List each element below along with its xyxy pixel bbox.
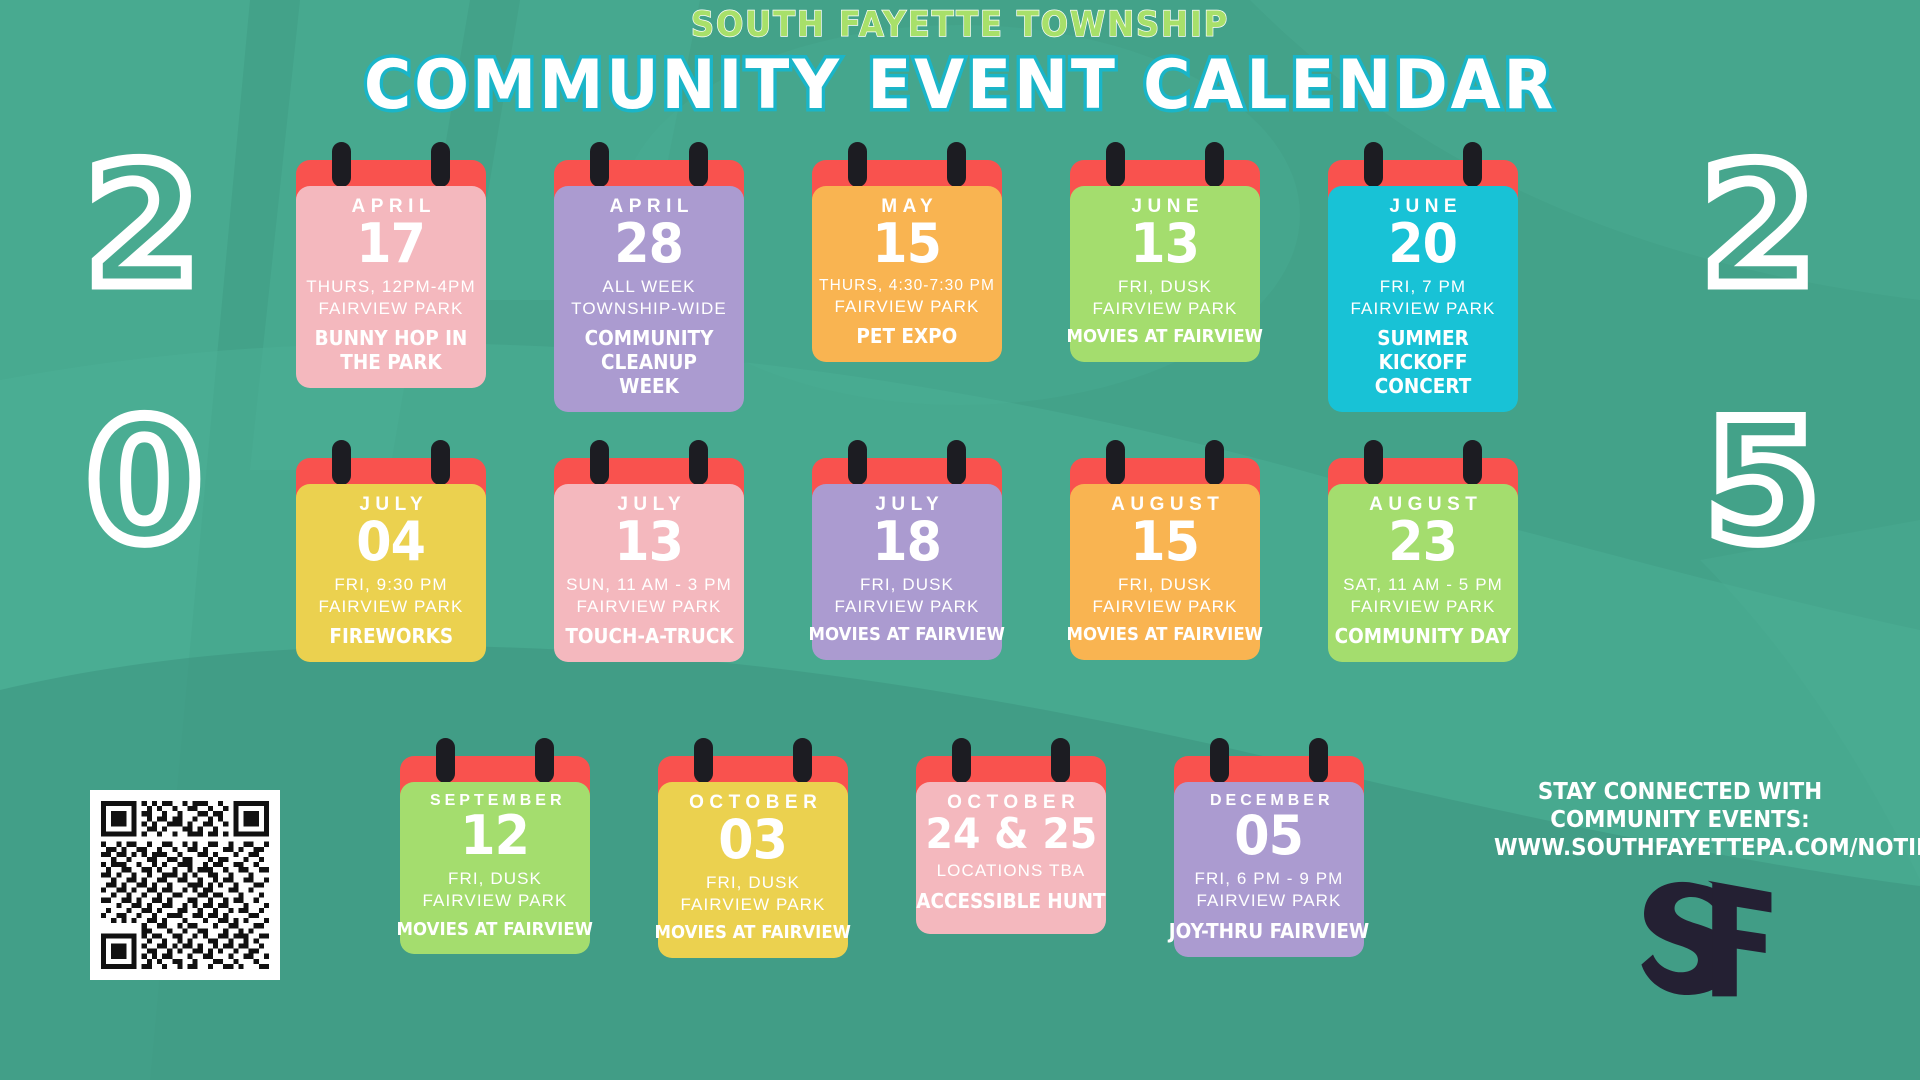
page-title: COMMUNITY EVENT CALENDAR: [48, 47, 1872, 125]
event-title: FIREWORKS: [329, 624, 453, 648]
calendar-pin-icon: [1106, 440, 1125, 485]
calendar-card-body: AUGUST23SAT, 11 AM - 5 PMFAIRVIEW PARKCO…: [1328, 484, 1518, 662]
calendar-card-body: OCTOBER03FRI, DUSKFAIRVIEW PARKMOVIES AT…: [658, 782, 848, 958]
event-detail: FRI, 6 PM - 9 PMFAIRVIEW PARK: [1195, 868, 1344, 912]
sf-logo: [1625, 875, 1785, 1005]
calendar-pin-icon: [1205, 440, 1224, 485]
event-title: ACCESSIBLE HUNT: [916, 889, 1105, 913]
footer-note: STAY CONNECTED WITH COMMUNITY EVENTS: WW…: [1494, 778, 1866, 862]
qr-code-image: [101, 801, 269, 969]
event-day: 13: [1131, 217, 1200, 271]
event-day: 05: [1235, 809, 1304, 863]
event-title: MOVIES AT FAIRVIEW: [397, 919, 593, 941]
event-title: JOY-THRU FAIRVIEW: [1169, 919, 1370, 943]
calendar-card[interactable]: SEPTEMBER12FRI, DUSKFAIRVIEW PARKMOVIES …: [400, 756, 590, 954]
calendar-card-body: JUNE20FRI, 7 PMFAIRVIEW PARKSUMMER KICKO…: [1328, 186, 1518, 412]
calendar-pin-icon: [1205, 142, 1224, 187]
calendar-card[interactable]: JUNE20FRI, 7 PMFAIRVIEW PARKSUMMER KICKO…: [1328, 160, 1518, 412]
calendar-card[interactable]: OCTOBER03FRI, DUSKFAIRVIEW PARKMOVIES AT…: [658, 756, 848, 958]
calendar-card-body: JUNE13FRI, DUSKFAIRVIEW PARKMOVIES AT FA…: [1070, 186, 1260, 362]
event-detail: LOCATIONS TBA: [937, 860, 1086, 882]
calendar-pin-icon: [590, 142, 609, 187]
calendar-pin-icon: [431, 142, 450, 187]
calendar-pin-icon: [1051, 738, 1070, 783]
calendar-card[interactable]: JUNE13FRI, DUSKFAIRVIEW PARKMOVIES AT FA…: [1070, 160, 1260, 362]
calendar-pin-icon: [1106, 142, 1125, 187]
kicker-text: SOUTH FAYETTE TOWNSHIP: [77, 6, 1843, 45]
calendar-card-body: MAY15THURS, 4:30-7:30 PMFAIRVIEW PARKPET…: [812, 186, 1002, 362]
event-detail: FRI, 9:30 PMFAIRVIEW PARK: [319, 574, 464, 618]
calendar-card-body: JULY18FRI, DUSKFAIRVIEW PARKMOVIES AT FA…: [812, 484, 1002, 660]
calendar-card[interactable]: AUGUST15FRI, DUSKFAIRVIEW PARKMOVIES AT …: [1070, 458, 1260, 660]
calendar-pin-icon: [1309, 738, 1328, 783]
calendar-card-body: DECEMBER05FRI, 6 PM - 9 PMFAIRVIEW PARKJ…: [1174, 782, 1364, 957]
event-detail: FRI, DUSKFAIRVIEW PARK: [835, 574, 980, 618]
event-day: 12: [461, 809, 530, 863]
calendar-card[interactable]: OCTOBER24 & 25LOCATIONS TBAACCESSIBLE HU…: [916, 756, 1106, 934]
calendar-pin-icon: [793, 738, 812, 783]
calendar-card-body: AUGUST15FRI, DUSKFAIRVIEW PARKMOVIES AT …: [1070, 484, 1260, 660]
calendar-card[interactable]: JULY04FRI, 9:30 PMFAIRVIEW PARKFIREWORKS: [296, 458, 486, 662]
event-detail: THURS, 12PM-4PMFAIRVIEW PARK: [306, 276, 476, 320]
event-title: COMMUNITY DAY: [1335, 624, 1511, 648]
calendar-pin-icon: [1463, 440, 1482, 485]
calendar-card-body: OCTOBER24 & 25LOCATIONS TBAACCESSIBLE HU…: [916, 782, 1106, 934]
event-title: COMMUNITY CLEANUP WEEK: [569, 326, 729, 398]
calendar-pin-icon: [689, 142, 708, 187]
calendar-pin-icon: [694, 738, 713, 783]
event-day: 15: [1131, 515, 1200, 569]
calendar-pin-icon: [947, 142, 966, 187]
event-day: 04: [357, 515, 426, 569]
calendar-card[interactable]: APRIL28ALL WEEKTOWNSHIP-WIDECOMMUNITY CL…: [554, 160, 744, 412]
sf-monogram-icon: [1625, 875, 1785, 1005]
event-detail: SAT, 11 AM - 5 PMFAIRVIEW PARK: [1343, 574, 1503, 618]
event-detail: FRI, DUSKFAIRVIEW PARK: [681, 872, 826, 916]
event-detail: FRI, DUSKFAIRVIEW PARK: [423, 868, 568, 912]
event-day: 20: [1389, 217, 1458, 271]
event-detail: THURS, 4:30-7:30 PMFAIRVIEW PARK: [819, 276, 995, 318]
calendar-pin-icon: [436, 738, 455, 783]
calendar-pin-icon: [1364, 142, 1383, 187]
event-title: PET EXPO: [857, 324, 958, 348]
event-title: MOVIES AT FAIRVIEW: [1067, 326, 1263, 348]
calendar-pin-icon: [947, 440, 966, 485]
event-calendar-poster: SOUTH FAYETTE TOWNSHIP COMMUNITY EVENT C…: [0, 0, 1920, 1080]
event-detail: ALL WEEKTOWNSHIP-WIDE: [571, 276, 727, 320]
event-title: MOVIES AT FAIRVIEW: [809, 624, 1005, 646]
calendar-pin-icon: [332, 142, 351, 187]
event-day: 03: [719, 813, 788, 867]
calendar-pin-icon: [848, 440, 867, 485]
calendar-pin-icon: [1463, 142, 1482, 187]
calendar-pin-icon: [952, 738, 971, 783]
event-day: 15: [873, 217, 942, 271]
calendar-card[interactable]: MAY15THURS, 4:30-7:30 PMFAIRVIEW PARKPET…: [812, 160, 1002, 362]
calendar-pin-icon: [689, 440, 708, 485]
calendar-card-body: JULY04FRI, 9:30 PMFAIRVIEW PARKFIREWORKS: [296, 484, 486, 662]
event-day: 17: [357, 217, 426, 271]
calendar-card-body: SEPTEMBER12FRI, DUSKFAIRVIEW PARKMOVIES …: [400, 782, 590, 954]
event-detail: FRI, DUSKFAIRVIEW PARK: [1093, 574, 1238, 618]
calendar-pin-icon: [332, 440, 351, 485]
calendar-pin-icon: [535, 738, 554, 783]
calendar-pin-icon: [848, 142, 867, 187]
event-title: TOUCH-A-TRUCK: [565, 624, 733, 648]
calendar-card[interactable]: JULY18FRI, DUSKFAIRVIEW PARKMOVIES AT FA…: [812, 458, 1002, 660]
calendar-card-body: JULY13SUN, 11 AM - 3 PMFAIRVIEW PARKTOUC…: [554, 484, 744, 662]
poster-header: SOUTH FAYETTE TOWNSHIP COMMUNITY EVENT C…: [0, 6, 1920, 125]
event-day: 28: [615, 217, 684, 271]
calendar-card-body: APRIL17THURS, 12PM-4PMFAIRVIEW PARKBUNNY…: [296, 186, 486, 388]
event-title: SUMMER KICKOFF CONCERT: [1343, 326, 1503, 398]
qr-code[interactable]: [90, 790, 280, 980]
event-day: 18: [873, 515, 942, 569]
calendar-card[interactable]: APRIL17THURS, 12PM-4PMFAIRVIEW PARKBUNNY…: [296, 160, 486, 388]
event-day: 23: [1389, 515, 1458, 569]
calendar-pin-icon: [431, 440, 450, 485]
calendar-card-body: APRIL28ALL WEEKTOWNSHIP-WIDECOMMUNITY CL…: [554, 186, 744, 412]
calendar-pin-icon: [590, 440, 609, 485]
calendar-card[interactable]: DECEMBER05FRI, 6 PM - 9 PMFAIRVIEW PARKJ…: [1174, 756, 1364, 957]
event-detail: FRI, DUSKFAIRVIEW PARK: [1093, 276, 1238, 320]
calendar-card[interactable]: JULY13SUN, 11 AM - 3 PMFAIRVIEW PARKTOUC…: [554, 458, 744, 662]
event-title: BUNNY HOP IN THE PARK: [311, 326, 471, 374]
event-day: 24 & 25: [925, 813, 1097, 855]
event-detail: FRI, 7 PMFAIRVIEW PARK: [1351, 276, 1496, 320]
event-title: MOVIES AT FAIRVIEW: [1067, 624, 1263, 646]
event-title: MOVIES AT FAIRVIEW: [655, 922, 851, 944]
calendar-card[interactable]: AUGUST23SAT, 11 AM - 5 PMFAIRVIEW PARKCO…: [1328, 458, 1518, 662]
event-day: 13: [615, 515, 684, 569]
calendar-pin-icon: [1210, 738, 1229, 783]
event-detail: SUN, 11 AM - 3 PMFAIRVIEW PARK: [566, 574, 732, 618]
calendar-pin-icon: [1364, 440, 1383, 485]
